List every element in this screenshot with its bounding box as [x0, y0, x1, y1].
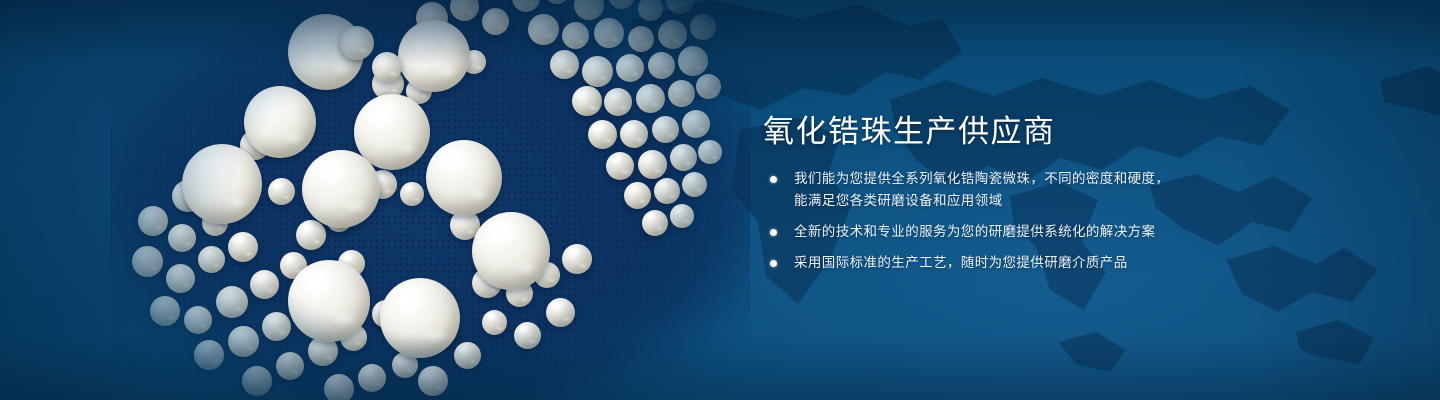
bullet-dot-icon [770, 176, 777, 183]
hero-banner: 氧化锆珠生产供应商 我们能为您提供全系列氧化锆陶瓷微珠，不同的密度和硬度， 能满… [0, 0, 1440, 400]
list-item-line: 全新的技术和专业的服务为您的研磨提供系统化的解决方案 [794, 221, 1236, 243]
banner-headline: 氧化锆珠生产供应商 [763, 106, 1056, 151]
list-item-line: 我们能为您提供全系列氧化锆陶瓷微珠，不同的密度和硬度， [794, 168, 1236, 190]
list-item: 全新的技术和专业的服务为您的研磨提供系统化的解决方案 [766, 221, 1236, 243]
list-item: 我们能为您提供全系列氧化锆陶瓷微珠，不同的密度和硬度， 能满足您各类研磨设备和应… [766, 168, 1236, 212]
list-item-line: 采用国际标准的生产工艺，随时为您提供研磨介质产品 [794, 252, 1236, 274]
bullet-dot-icon [770, 260, 777, 267]
banner-content: 氧化锆珠生产供应商 我们能为您提供全系列氧化锆陶瓷微珠，不同的密度和硬度， 能满… [763, 0, 1323, 400]
feature-list: 我们能为您提供全系列氧化锆陶瓷微珠，不同的密度和硬度， 能满足您各类研磨设备和应… [766, 168, 1236, 274]
list-item-line: 能满足您各类研磨设备和应用领域 [794, 190, 1236, 212]
list-item: 采用国际标准的生产工艺，随时为您提供研磨介质产品 [766, 252, 1236, 274]
bullet-dot-icon [770, 229, 777, 236]
